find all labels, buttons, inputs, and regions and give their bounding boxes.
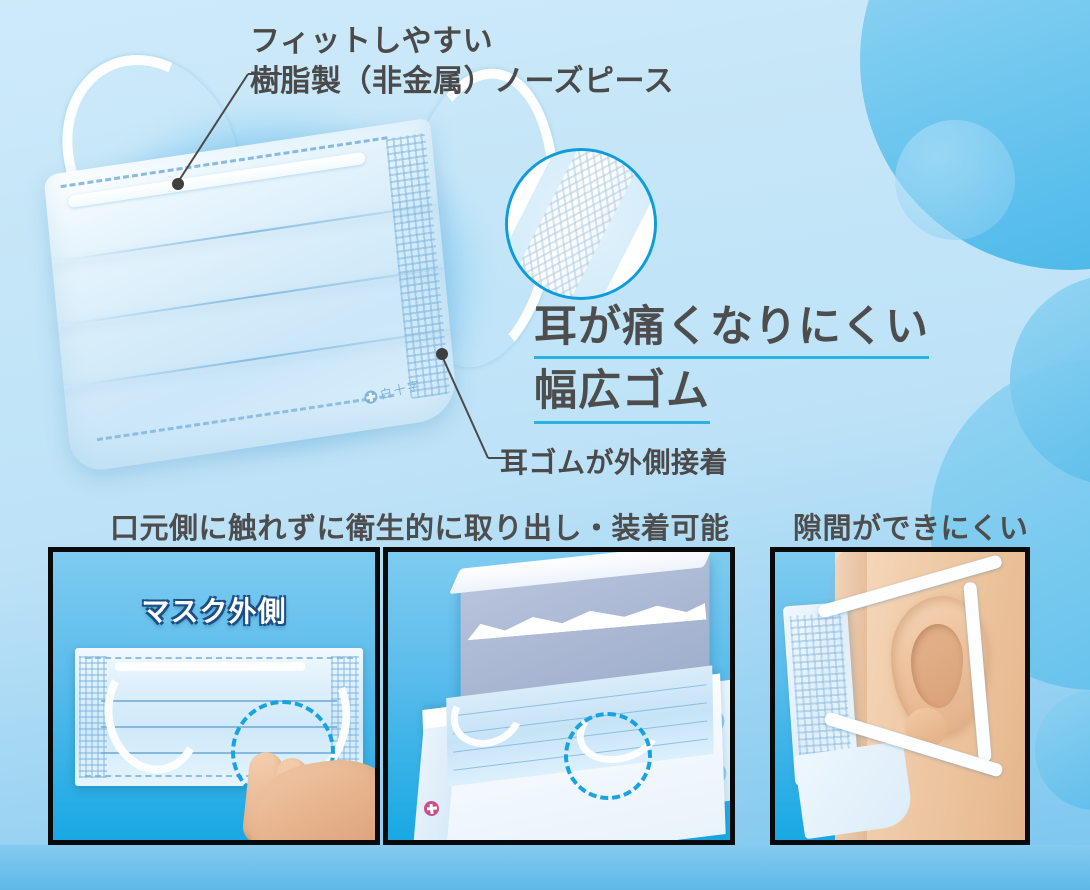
main-headline: 耳が痛くなりにくい 幅広ゴム (534, 302, 954, 424)
panel-mask-outside: マスク外側 (48, 547, 380, 845)
mask-pleat (58, 267, 444, 327)
callout-nose-piece: フィットしやすい 樹脂製（非金属）ノーズピース (250, 22, 674, 101)
panel-ear-fit (770, 547, 1030, 845)
section-heading-left: 口元側に触れずに衛生的に取り出し・装着可能 (110, 505, 730, 547)
callout-nose-piece-line2: 樹脂製（非金属）ノーズピース (250, 62, 674, 102)
decorative-bubble-small-top (895, 120, 1015, 240)
cross-icon (423, 800, 440, 817)
mask-pleat (52, 203, 438, 263)
panel-open-box (383, 547, 735, 845)
mask-pleat (64, 329, 450, 389)
mask-product-photo: 白十字 (48, 46, 518, 486)
callout-ear-elastic: 耳ゴムが外側接着 (500, 446, 728, 483)
flat-mask-weld-left (79, 656, 107, 778)
panel-caption-mask-outside: マスク外側 (53, 590, 375, 630)
callout-nose-piece-line1: フィットしやすい (250, 25, 493, 58)
section-heading-right: 隙間ができにくい (793, 505, 1028, 547)
decorative-bubble-large (860, 0, 1090, 270)
annotation-dashed-circle (564, 712, 652, 800)
mask-body: 白十字 (44, 118, 459, 474)
headline-line-1: 耳が痛くなりにくい (534, 302, 929, 359)
decorative-bubble-bottom (1035, 690, 1090, 810)
headline-line-2: 幅広ゴム (534, 366, 710, 423)
mask-brand-logo: 白十字 (363, 376, 423, 407)
poster-canvas: 白十字 フィットしやすい 樹脂製（非金属）ノーズピース 耳ゴムが外側接着 耳が痛… (0, 0, 1090, 890)
bottom-color-band (0, 845, 1090, 890)
decorative-bubble-overlap (1010, 275, 1090, 485)
box-brand-logo (423, 800, 440, 817)
flat-mask-stitch-top (85, 657, 353, 659)
elastic-closeup-magnifier (505, 148, 657, 300)
cross-icon (363, 389, 378, 405)
